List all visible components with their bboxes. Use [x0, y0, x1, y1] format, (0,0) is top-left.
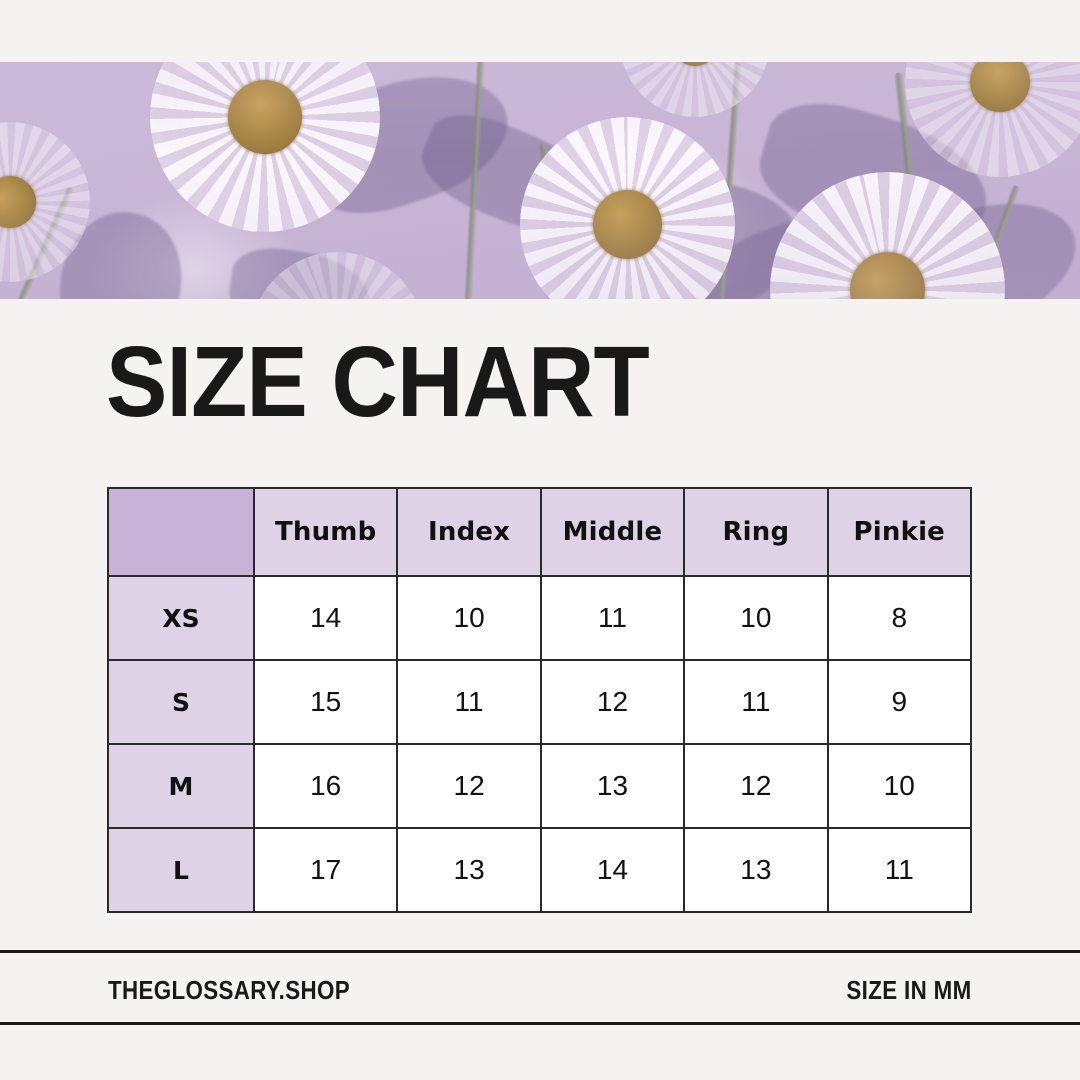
- cell-xs-pinkie: 8: [828, 576, 971, 660]
- footer-brand: THEGLOSSARY.SHOP: [108, 975, 350, 1006]
- column-header-thumb: Thumb: [254, 488, 397, 576]
- column-header-pinkie: Pinkie: [828, 488, 971, 576]
- cell-l-ring: 13: [684, 828, 827, 912]
- page-title: SIZE CHART: [106, 332, 649, 432]
- cell-m-ring: 12: [684, 744, 827, 828]
- cell-s-index: 11: [397, 660, 540, 744]
- cell-s-thumb: 15: [254, 660, 397, 744]
- cell-l-pinkie: 11: [828, 828, 971, 912]
- column-header-middle: Middle: [541, 488, 684, 576]
- cell-s-middle: 12: [541, 660, 684, 744]
- cell-m-pinkie: 10: [828, 744, 971, 828]
- footer-units-note: SIZE IN MM: [847, 975, 972, 1006]
- daisy-flowers-banner: [0, 62, 1080, 299]
- table-body: XS 14 10 11 10 8 S 15 11 12 11 9 M 16 12…: [108, 576, 971, 912]
- table-header-row: Thumb Index Middle Ring Pinkie: [108, 488, 971, 576]
- cell-xs-index: 10: [397, 576, 540, 660]
- table-corner-cell: [108, 488, 254, 576]
- cell-xs-middle: 11: [541, 576, 684, 660]
- cell-l-middle: 14: [541, 828, 684, 912]
- cell-m-thumb: 16: [254, 744, 397, 828]
- cell-l-thumb: 17: [254, 828, 397, 912]
- cell-s-pinkie: 9: [828, 660, 971, 744]
- cell-l-index: 13: [397, 828, 540, 912]
- row-label-m: M: [108, 744, 254, 828]
- size-chart-table: Thumb Index Middle Ring Pinkie XS 14 10 …: [107, 487, 972, 913]
- table-row: L 17 13 14 13 11: [108, 828, 971, 912]
- footer-divider-top: [0, 950, 1080, 953]
- table-header: Thumb Index Middle Ring Pinkie: [108, 488, 971, 576]
- column-header-ring: Ring: [684, 488, 827, 576]
- row-label-s: S: [108, 660, 254, 744]
- table-row: S 15 11 12 11 9: [108, 660, 971, 744]
- row-label-l: L: [108, 828, 254, 912]
- table-row: XS 14 10 11 10 8: [108, 576, 971, 660]
- cell-xs-ring: 10: [684, 576, 827, 660]
- column-header-index: Index: [397, 488, 540, 576]
- cell-s-ring: 11: [684, 660, 827, 744]
- footer-divider-bottom: [0, 1022, 1080, 1025]
- row-label-xs: XS: [108, 576, 254, 660]
- table-row: M 16 12 13 12 10: [108, 744, 971, 828]
- daisy-core: [593, 190, 662, 259]
- cell-m-index: 12: [397, 744, 540, 828]
- cell-m-middle: 13: [541, 744, 684, 828]
- cell-xs-thumb: 14: [254, 576, 397, 660]
